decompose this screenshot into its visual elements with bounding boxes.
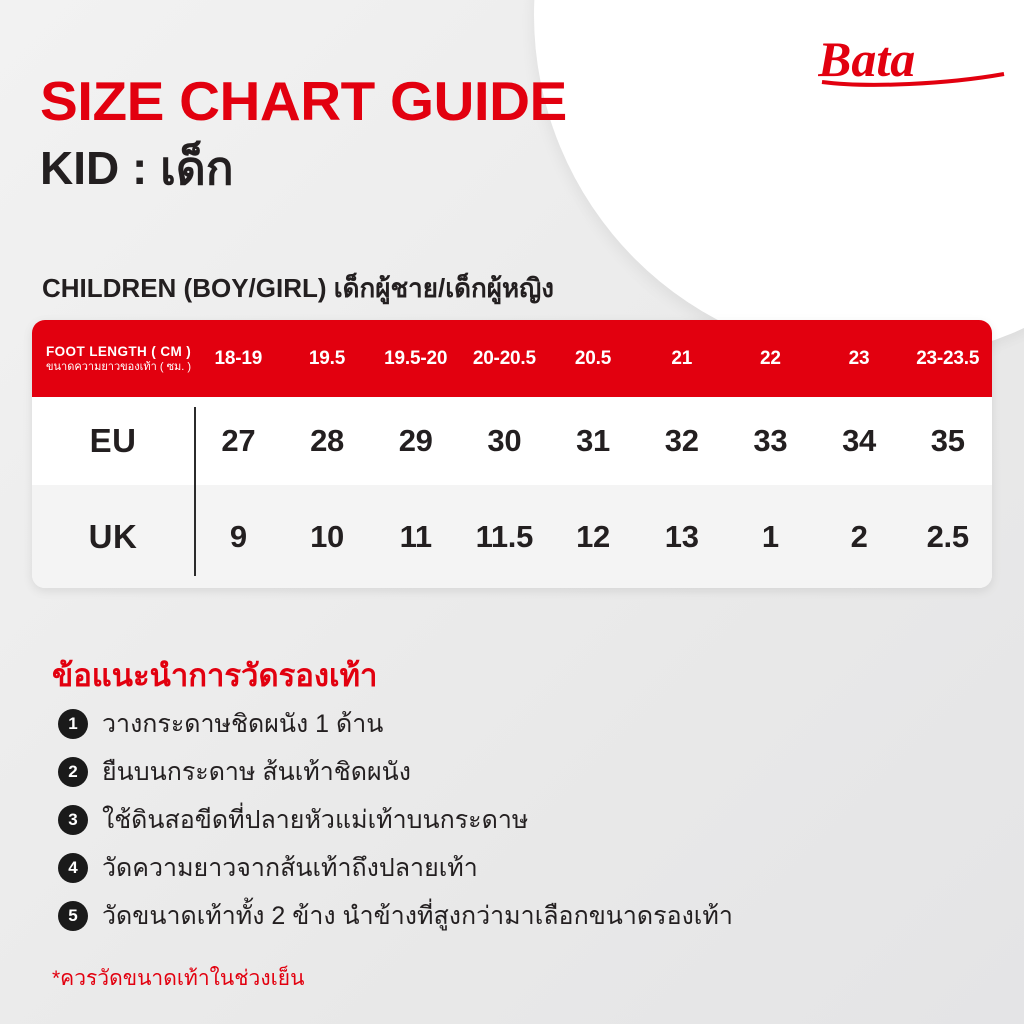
column-divider bbox=[194, 407, 196, 485]
section-label: CHILDREN (BOY/GIRL) เด็กผู้ชาย/เด็กผู้หญ… bbox=[42, 268, 554, 309]
step-number-badge: 2 bbox=[58, 757, 88, 787]
header-cell: 20-20.5 bbox=[460, 348, 549, 370]
bata-logo-text: Bata bbox=[818, 31, 915, 87]
table-header-row: FOOT LENGTH ( CM ) ขนาดความยาวของเท้า ( … bbox=[32, 320, 992, 397]
table-cell: 2.5 bbox=[903, 519, 992, 555]
header-cell: 23-23.5 bbox=[903, 348, 992, 370]
step-text: ยืนบนกระดาษ ส้นเท้าชิดผนัง bbox=[102, 752, 411, 792]
list-item: 2 ยืนบนกระดาษ ส้นเท้าชิดผนัง bbox=[58, 748, 958, 796]
table-cell: 28 bbox=[283, 423, 372, 459]
footnote: *ควรวัดขนาดเท้าในช่วงเย็น bbox=[52, 962, 304, 995]
step-number-badge: 1 bbox=[58, 709, 88, 739]
table-cell: 10 bbox=[283, 519, 372, 555]
page-subtitle: KID : เด็ก bbox=[40, 142, 234, 194]
table-cell: 27 bbox=[194, 423, 283, 459]
table-cell: 11 bbox=[371, 519, 460, 555]
header-cell: 21 bbox=[637, 348, 726, 370]
table-corner-header: FOOT LENGTH ( CM ) ขนาดความยาวของเท้า ( … bbox=[32, 343, 194, 375]
header-cell: 19.5 bbox=[283, 348, 372, 370]
table-cell: 34 bbox=[815, 423, 904, 459]
table-cell: 35 bbox=[903, 423, 992, 459]
list-item: 3 ใช้ดินสอขีดที่ปลายหัวแม่เท้าบนกระดาษ bbox=[58, 796, 958, 844]
step-number-badge: 4 bbox=[58, 853, 88, 883]
header-cell: 18-19 bbox=[194, 348, 283, 370]
table-cell: 2 bbox=[815, 519, 904, 555]
row-label-uk: UK bbox=[32, 518, 194, 556]
table-row: EU 27 28 29 30 31 32 33 34 35 bbox=[32, 397, 992, 485]
size-table: FOOT LENGTH ( CM ) ขนาดความยาวของเท้า ( … bbox=[32, 320, 992, 588]
foot-length-label-th: ขนาดความยาวของเท้า ( ซม. ) bbox=[46, 360, 194, 375]
table-cell: 32 bbox=[637, 423, 726, 459]
foot-length-label-en: FOOT LENGTH ( CM ) bbox=[46, 343, 194, 360]
table-cell: 29 bbox=[371, 423, 460, 459]
instructions-heading: ข้อแนะนำการวัดรองเท้า bbox=[52, 650, 377, 700]
size-chart-page: Bata SIZE CHART GUIDE KID : เด็ก CHILDRE… bbox=[0, 0, 1024, 1024]
column-divider bbox=[194, 485, 196, 576]
list-item: 4 วัดความยาวจากส้นเท้าถึงปลายเท้า bbox=[58, 844, 958, 892]
step-number-badge: 5 bbox=[58, 901, 88, 931]
step-text: วางกระดาษชิดผนัง 1 ด้าน bbox=[102, 704, 383, 744]
table-cell: 30 bbox=[460, 423, 549, 459]
step-text: ใช้ดินสอขีดที่ปลายหัวแม่เท้าบนกระดาษ bbox=[102, 800, 528, 840]
page-title: SIZE CHART GUIDE bbox=[40, 72, 567, 130]
header-cell: 19.5-20 bbox=[371, 348, 460, 370]
list-item: 1 วางกระดาษชิดผนัง 1 ด้าน bbox=[58, 700, 958, 748]
instructions-list: 1 วางกระดาษชิดผนัง 1 ด้าน 2 ยืนบนกระดาษ … bbox=[58, 700, 958, 940]
table-cell: 9 bbox=[194, 519, 283, 555]
step-text: วัดขนาดเท้าทั้ง 2 ข้าง นำข้างที่สูงกว่าม… bbox=[102, 896, 733, 936]
table-cell: 11.5 bbox=[460, 519, 549, 555]
bata-logo: Bata bbox=[818, 30, 1008, 90]
table-cell: 1 bbox=[726, 519, 815, 555]
table-cell: 12 bbox=[549, 519, 638, 555]
header-cell: 20.5 bbox=[549, 348, 638, 370]
table-cell: 31 bbox=[549, 423, 638, 459]
header-cell: 23 bbox=[815, 348, 904, 370]
list-item: 5 วัดขนาดเท้าทั้ง 2 ข้าง นำข้างที่สูงกว่… bbox=[58, 892, 958, 940]
header-cell: 22 bbox=[726, 348, 815, 370]
step-number-badge: 3 bbox=[58, 805, 88, 835]
table-cell: 33 bbox=[726, 423, 815, 459]
step-text: วัดความยาวจากส้นเท้าถึงปลายเท้า bbox=[102, 848, 478, 888]
row-label-eu: EU bbox=[32, 422, 194, 460]
table-cell: 13 bbox=[637, 519, 726, 555]
table-row: UK 9 10 11 11.5 12 13 1 2 2.5 bbox=[32, 485, 992, 588]
